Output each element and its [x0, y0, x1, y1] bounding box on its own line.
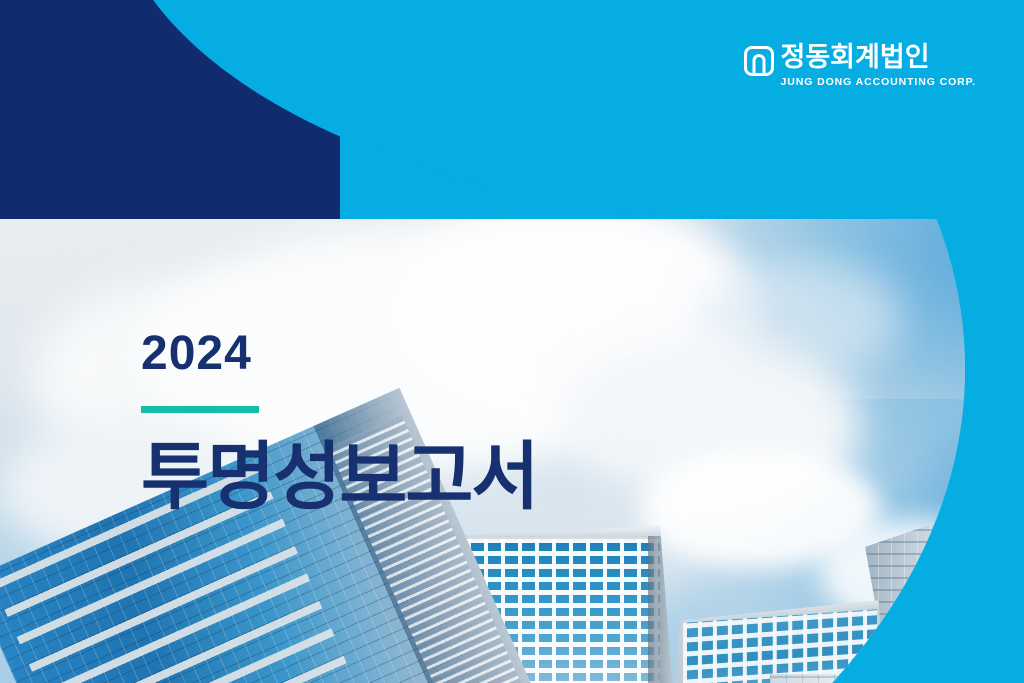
building-far-right-sliver	[955, 649, 1024, 683]
logo-name-ko: 정동회계법인	[781, 44, 977, 71]
logo-name-en: JUNG DONG ACCOUNTING CORP.	[781, 76, 977, 88]
jungdong-logo-mark-icon	[744, 46, 774, 76]
logo-wordmark: 정동회계법인 JUNG DONG ACCOUNTING CORP.	[781, 44, 977, 88]
page-title: 투명성보고서	[141, 439, 537, 514]
cover-title-block: 2024 투명성보고서	[141, 330, 537, 514]
header-band	[0, 0, 1024, 219]
company-logo: 정동회계법인 JUNG DONG ACCOUNTING CORP.	[744, 44, 977, 88]
building-right-foreground	[770, 674, 900, 683]
cover-year: 2024	[141, 330, 537, 378]
report-cover-page: 2024 투명성보고서 정동회계법인 JUNG DONG ACCOUNTING …	[0, 0, 1024, 683]
title-accent-rule	[141, 406, 259, 413]
